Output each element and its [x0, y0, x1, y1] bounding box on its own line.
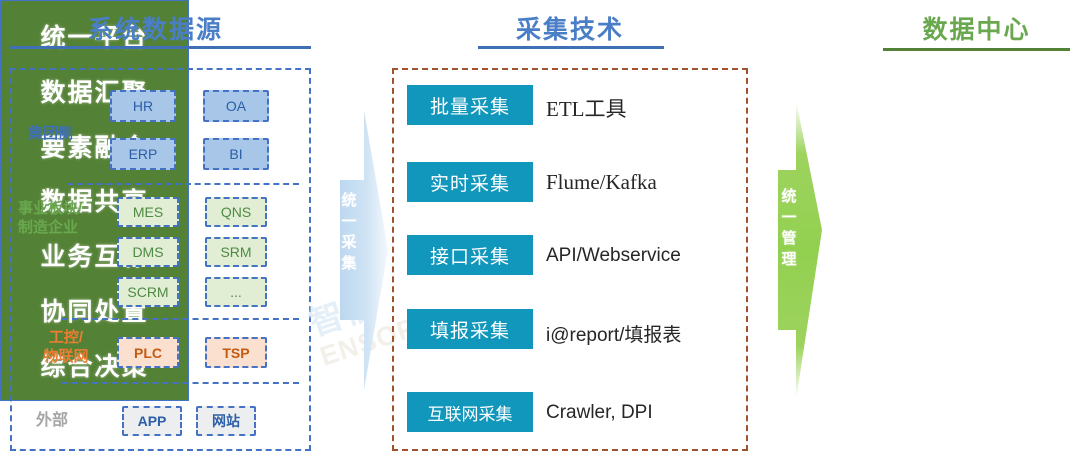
tech-desc-api: API/Webservice — [546, 245, 681, 267]
chip-label: PLC — [134, 345, 162, 361]
arrow-char: 统 — [780, 186, 798, 207]
chip-hr[interactable]: HR — [110, 90, 176, 122]
tech-tag-label: 接口采集 — [430, 242, 510, 269]
chip-bi[interactable]: BI — [203, 138, 269, 170]
chip-srm[interactable]: SRM — [205, 237, 267, 267]
middle-column-title: 采集技术 — [392, 10, 748, 46]
chip-mes[interactable]: MES — [117, 197, 179, 227]
right-column-title: 数据中心 — [883, 10, 1070, 46]
group-label-line2: 制造企业 — [18, 218, 82, 237]
chip-more[interactable]: ... — [205, 277, 267, 307]
tech-tag-realtime[interactable]: 实时采集 — [407, 162, 533, 202]
chip-app[interactable]: APP — [122, 406, 182, 436]
unified-collection-arrow-label: 统 一 采 集 — [340, 190, 358, 274]
group-label-industrial-iot: 工控/ 物联网 — [26, 328, 106, 366]
arrow-char: 一 — [780, 207, 798, 228]
chip-label: 网站 — [212, 411, 240, 431]
tech-tag-label: 互联网采集 — [428, 400, 513, 425]
chip-label: ... — [230, 284, 242, 300]
arrow-char: 集 — [340, 253, 358, 274]
chip-tsp[interactable]: TSP — [205, 337, 267, 368]
group-label-line1: 工控/ — [26, 328, 106, 347]
chip-label: TSP — [222, 345, 249, 361]
left-title-rule — [10, 46, 311, 49]
left-column-title: 系统数据源 — [0, 10, 311, 46]
chip-dms[interactable]: DMS — [117, 237, 179, 267]
arrow-char: 统 — [340, 190, 358, 211]
tech-desc-form: i@report/填报表 — [546, 320, 681, 347]
chip-qns[interactable]: QNS — [205, 197, 267, 227]
tech-desc-internet: Crawler, DPI — [546, 402, 653, 424]
tech-desc-batch: ETL工具 — [546, 93, 626, 123]
group-divider-2 — [62, 318, 299, 320]
arrow-char: 一 — [340, 211, 358, 232]
group-divider-1 — [67, 183, 299, 185]
tech-tag-batch[interactable]: 批量采集 — [407, 85, 533, 125]
group-label-group-side: 集团侧 — [28, 124, 73, 143]
tech-tag-label: 批量采集 — [430, 92, 510, 119]
chip-website[interactable]: 网站 — [196, 406, 256, 436]
tech-tag-label: 填报采集 — [430, 316, 510, 343]
tech-tag-api[interactable]: 接口采集 — [407, 235, 533, 275]
tech-tag-form[interactable]: 填报采集 — [407, 309, 533, 349]
chip-label: MES — [133, 204, 163, 220]
chip-oa[interactable]: OA — [203, 90, 269, 122]
unified-management-arrow-label: 统 一 管 理 — [780, 186, 798, 270]
group-label-external: 外部 — [36, 411, 68, 430]
chip-scrm[interactable]: SCRM — [117, 277, 179, 307]
chip-label: HR — [133, 98, 153, 114]
arrow-char: 采 — [340, 232, 358, 253]
arrow-char: 管 — [780, 228, 798, 249]
tech-tag-internet[interactable]: 互联网采集 — [407, 392, 533, 432]
chip-label: ERP — [129, 146, 158, 162]
group-label-line1: 事业板块/ — [18, 199, 82, 218]
chip-erp[interactable]: ERP — [110, 138, 176, 170]
chip-label: DMS — [132, 244, 163, 260]
group-label-line2: 物联网 — [26, 347, 106, 366]
collection-technology-panel: 批量采集 ETL工具 实时采集 Flume/Kafka 接口采集 API/Web… — [392, 68, 748, 451]
chip-plc[interactable]: PLC — [117, 337, 179, 368]
chip-label: OA — [226, 98, 246, 114]
right-title-rule — [883, 48, 1070, 51]
middle-title-rule — [478, 46, 664, 49]
chip-label: SRM — [220, 244, 251, 260]
system-data-sources-panel: 集团侧 HR OA ERP BI 事业板块/ 制造企业 MES QNS DMS … — [10, 68, 311, 451]
group-divider-3 — [62, 382, 299, 384]
arrow-char: 理 — [780, 249, 798, 270]
tech-desc-realtime: Flume/Kafka — [546, 170, 657, 195]
group-label-business-units: 事业板块/ 制造企业 — [18, 199, 82, 237]
chip-label: BI — [229, 146, 242, 162]
chip-label: QNS — [221, 204, 251, 220]
tech-tag-label: 实时采集 — [430, 169, 510, 196]
chip-label: SCRM — [127, 284, 168, 300]
diagram-canvas: 系统数据源 采集技术 数据中心 集团侧 HR OA ERP BI 事业板块/ 制… — [0, 0, 1080, 463]
chip-label: APP — [138, 413, 167, 429]
